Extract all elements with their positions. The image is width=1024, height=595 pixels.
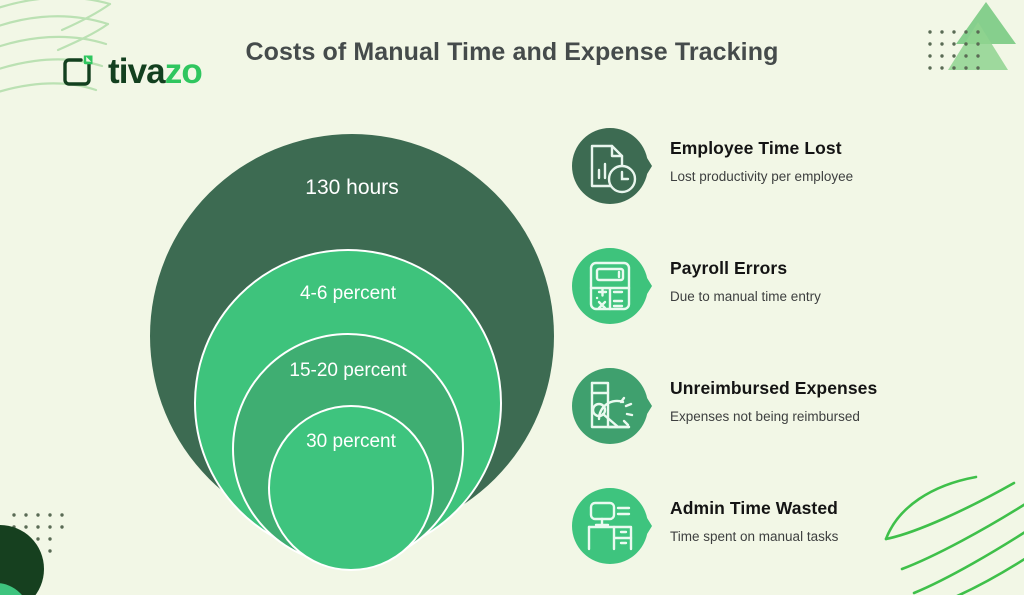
nested-circles-chart: 130 hours 4-6 percent 15-20 percent 30 p… [148, 128, 568, 573]
legend-item-admin-time-wasted[interactable]: Admin Time Wasted Time spent on manual t… [566, 478, 1006, 595]
circle-label-1: 130 hours [150, 176, 554, 200]
legend-list: Employee Time Lost Lost productivity per… [566, 118, 1006, 595]
circle-label-4: 30 percent [270, 431, 432, 453]
legend-subtitle: Due to manual time entry [670, 289, 1000, 306]
legend-subtitle: Time spent on manual tasks [670, 529, 1000, 546]
calculator-icon [566, 246, 654, 326]
legend-item-payroll-errors[interactable]: Payroll Errors Due to manual time entry [566, 238, 1006, 358]
page-title: Costs of Manual Time and Expense Trackin… [0, 38, 1024, 67]
circle-layer-4: 30 percent [268, 405, 434, 571]
legend-copy: Employee Time Lost Lost productivity per… [670, 138, 1000, 186]
legend-subtitle: Expenses not being reimbursed [670, 409, 1000, 426]
legend-item-unreimbursed-expenses[interactable]: Unreimbursed Expenses Expenses not being… [566, 358, 1006, 478]
quarter-circle-decoration-bottom-left [0, 521, 74, 595]
legend-copy: Payroll Errors Due to manual time entry [670, 258, 1000, 306]
circle-label-3: 15-20 percent [234, 360, 462, 382]
dot-grid-decoration-bottom-left [10, 511, 72, 559]
document-chart-clock-icon [566, 126, 654, 206]
circle-label-2: 4-6 percent [196, 283, 500, 305]
legend-copy: Unreimbursed Expenses Expenses not being… [670, 378, 1000, 426]
legend-title: Payroll Errors [670, 258, 1000, 279]
legend-title: Employee Time Lost [670, 138, 1000, 159]
legend-title: Unreimbursed Expenses [670, 378, 1000, 399]
expense-gauge-icon [566, 366, 654, 446]
infographic-canvas: tivazo Costs of Manual Time and Expense … [0, 0, 1024, 595]
desk-computer-icon [566, 486, 654, 566]
legend-title: Admin Time Wasted [670, 498, 1000, 519]
legend-copy: Admin Time Wasted Time spent on manual t… [670, 498, 1000, 546]
legend-item-employee-time-lost[interactable]: Employee Time Lost Lost productivity per… [566, 118, 1006, 238]
legend-subtitle: Lost productivity per employee [670, 169, 1000, 186]
